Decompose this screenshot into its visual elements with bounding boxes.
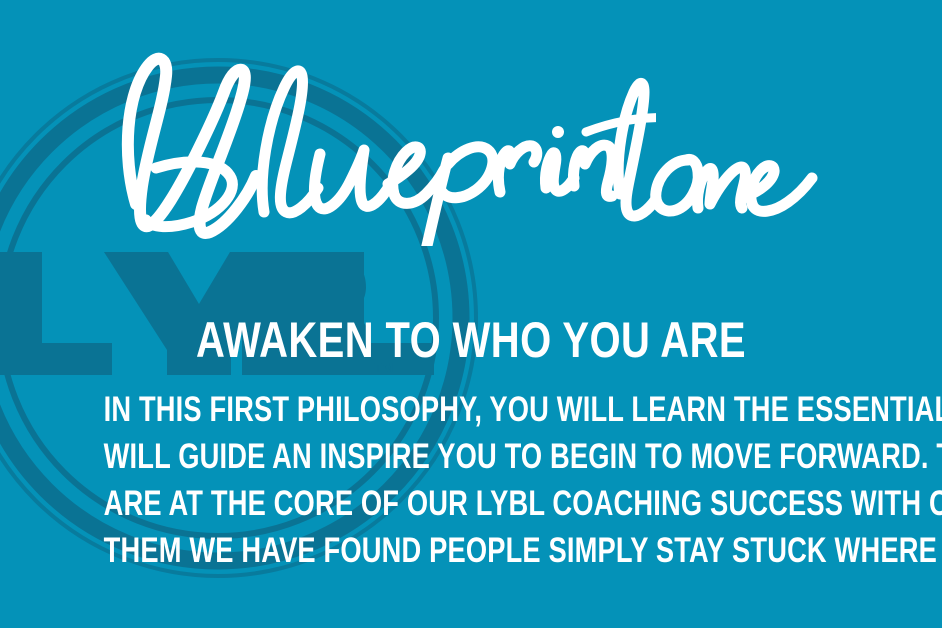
body-line: IN THIS FIRST PHILOSOPHY, YOU WILL LEARN… (104, 386, 839, 433)
slide-canvas: TM (0, 0, 942, 628)
body-copy: IN THIS FIRST PHILOSOPHY, YOU WILL LEARN… (0, 386, 942, 574)
page-title: AWAKEN TO WHO YOU ARE (94, 312, 848, 368)
title-script-blueprint (96, 36, 656, 246)
body-line: ARE AT THE CORE OF OUR LYBL COACHING SUC… (104, 480, 839, 527)
title-script-one (640, 122, 830, 232)
body-line: WILL GUIDE AN INSPIRE YOU TO BEGIN TO MO… (104, 433, 839, 480)
body-line: THEM WE HAVE FOUND PEOPLE SIMPLY STAY ST… (104, 527, 839, 574)
script-title-row (0, 36, 942, 246)
